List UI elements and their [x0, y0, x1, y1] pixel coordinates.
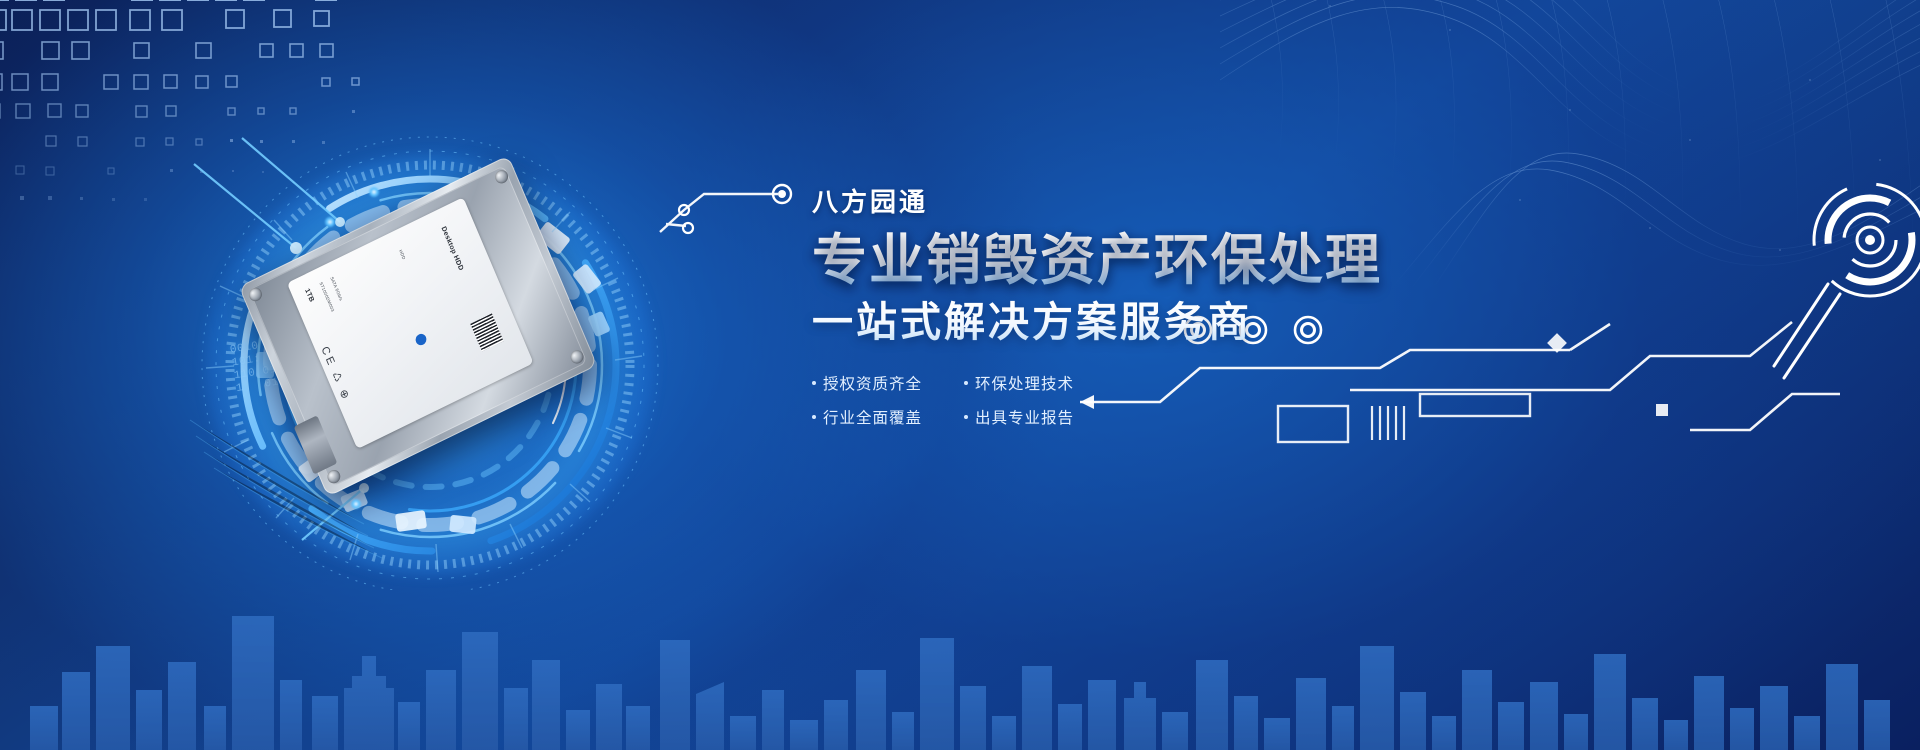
subheadline: 一站式解决方案服务商: [812, 300, 1552, 346]
bullet-dot-icon: [964, 415, 968, 419]
feature-bullet: 出具专业报告: [964, 406, 1142, 428]
circuit-trace-left: [660, 170, 820, 240]
glow-spark: [350, 498, 362, 510]
city-skyline-decoration: [0, 520, 1920, 750]
feature-bullet-list: 授权资质齐全 环保处理技术 行业全面覆盖 出具专业报告: [812, 372, 1142, 428]
headline: 专业销毁资产环保处理: [812, 231, 1552, 290]
feature-bullet-label: 环保处理技术: [975, 372, 1074, 394]
hdd-label-title: Desktop HDD: [440, 226, 463, 272]
feature-bullet: 环保处理技术: [964, 372, 1142, 394]
glow-spark: [368, 186, 380, 198]
feature-bullet: 授权资质齐全: [812, 372, 942, 394]
brand-name: 八方园通: [812, 182, 1552, 219]
feature-bullet-label: 出具专业报告: [975, 406, 1074, 428]
hdd-label-capacity: 1TB: [304, 288, 314, 303]
hdd-label-brand: HDD: [398, 249, 407, 261]
bullet-dot-icon: [964, 381, 968, 385]
hdd-barcode: [470, 313, 503, 351]
hdd-label-interface: SATA 6Gb/s: [329, 276, 344, 302]
banner-root: 0010 1001 100 101: 1011 001 110 0110 111…: [0, 0, 1920, 750]
bullet-dot-icon: [812, 415, 816, 419]
feature-bullet-label: 行业全面覆盖: [823, 406, 922, 428]
glow-spark: [324, 216, 336, 228]
hero-copy-block: 八方园通 专业销毁资产环保处理 一站式解决方案服务商 授权资质齐全 环保处理技术…: [812, 182, 1552, 428]
feature-bullet-label: 授权资质齐全: [823, 372, 922, 394]
bullet-dot-icon: [812, 381, 816, 385]
feature-bullet: 行业全面覆盖: [812, 406, 942, 428]
hdd-label-dot: [414, 332, 428, 347]
